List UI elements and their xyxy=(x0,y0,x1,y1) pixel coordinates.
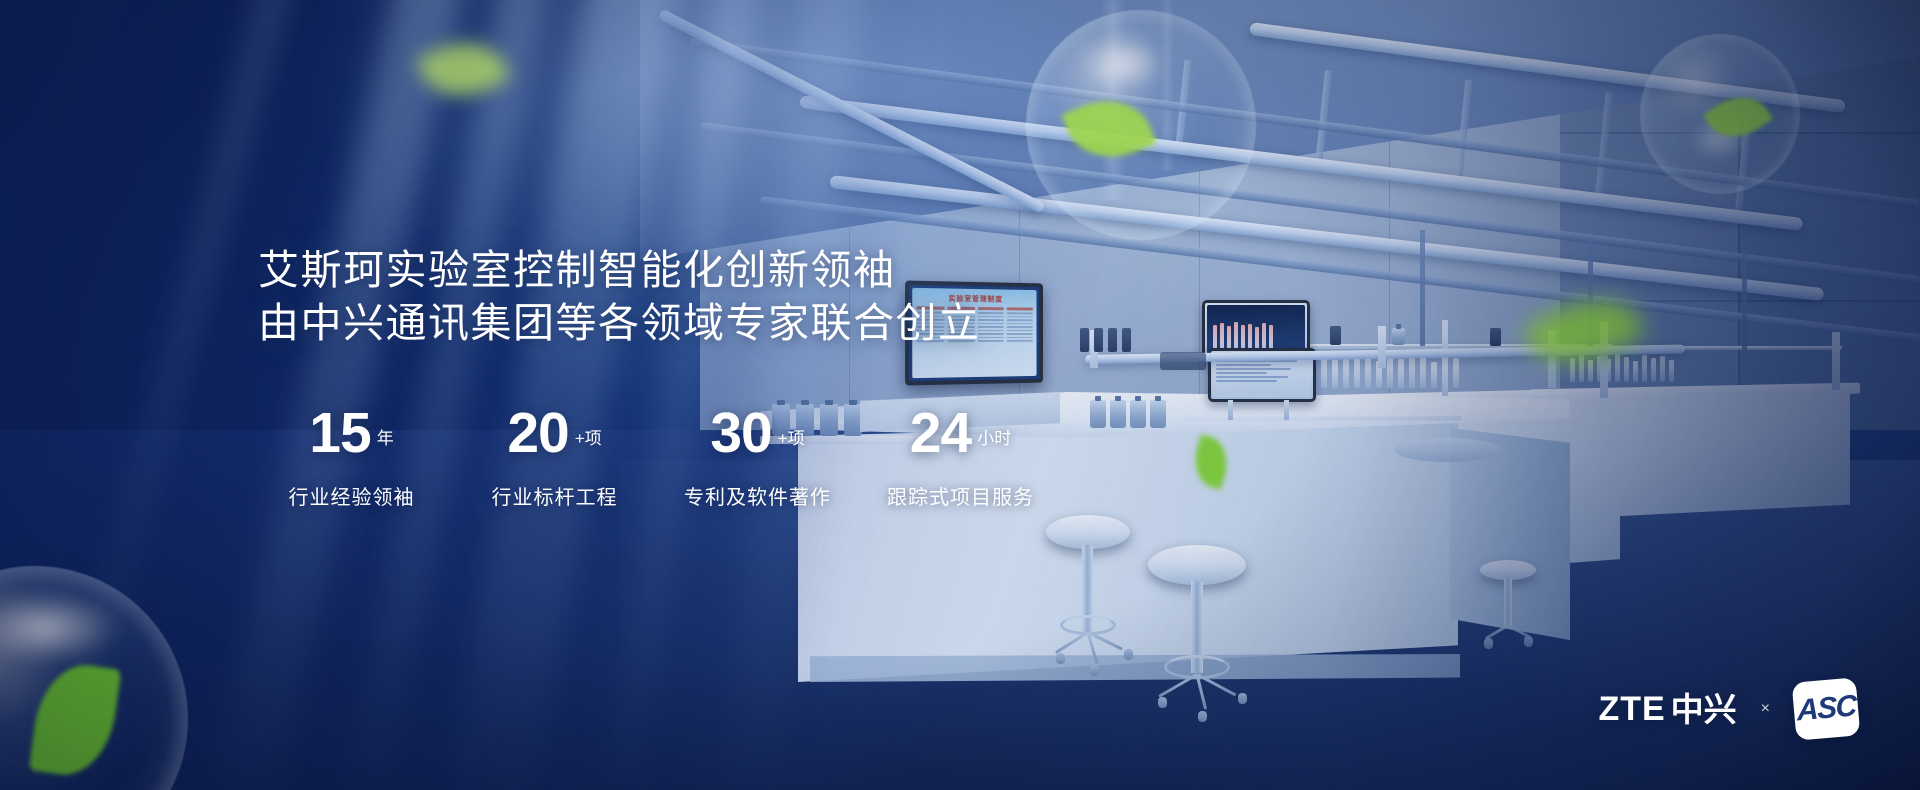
stat-item-benchmark: 20 +项 行业标杆工程 xyxy=(453,405,656,510)
zte-logo: ZTE 中兴 xyxy=(1598,692,1736,726)
stat-label: 专利及软件著作 xyxy=(656,481,859,510)
zte-logo-en: ZTE xyxy=(1598,692,1665,726)
stats-row: 15 年 行业经验领袖 20 +项 行业标杆工程 30 +项 专利及软件著作 xyxy=(250,405,1062,510)
logo-separator-icon: × xyxy=(1759,700,1772,718)
stat-unit: +项 xyxy=(778,430,805,447)
stat-unit: 小时 xyxy=(977,430,1011,447)
stat-item-patents: 30 +项 专利及软件著作 xyxy=(656,405,859,510)
stat-number-row: 30 +项 xyxy=(656,405,859,467)
stat-label: 行业经验领袖 xyxy=(250,481,453,510)
stat-number: 20 xyxy=(507,405,568,462)
stat-label: 行业标杆工程 xyxy=(453,481,656,510)
headline-line-2: 由中兴通讯集团等各领域专家联合创立 xyxy=(258,297,981,350)
stat-label: 跟踪式项目服务 xyxy=(859,481,1062,510)
stat-number: 24 xyxy=(910,405,971,462)
stat-number: 30 xyxy=(710,405,771,462)
zte-logo-cn: 中兴 xyxy=(1671,693,1737,726)
stat-number-row: 20 +项 xyxy=(453,405,656,467)
stat-item-experience: 15 年 行业经验领袖 xyxy=(250,405,453,510)
stat-number-row: 15 年 xyxy=(250,405,453,467)
asc-logo-text: ASC xyxy=(1796,691,1855,726)
asc-logo: ASC xyxy=(1792,677,1861,740)
lab-hero-banner: 实验室管理制度 xyxy=(0,0,1920,790)
banner-content: 艾斯珂实验室控制智能化创新领袖 由中兴通讯集团等各领域专家联合创立 15 年 行… xyxy=(0,0,1920,790)
stat-unit: +项 xyxy=(575,430,602,447)
headline: 艾斯珂实验室控制智能化创新领袖 由中兴通讯集团等各领域专家联合创立 xyxy=(258,244,981,351)
stat-number: 15 xyxy=(309,405,370,462)
logo-lockup: ZTE 中兴 × ASC xyxy=(1598,680,1858,738)
headline-line-1: 艾斯珂实验室控制智能化创新领袖 xyxy=(258,244,981,297)
stat-number-row: 24 小时 xyxy=(859,405,1062,467)
stat-item-service: 24 小时 跟踪式项目服务 xyxy=(859,405,1062,510)
stat-unit: 年 xyxy=(377,430,394,447)
